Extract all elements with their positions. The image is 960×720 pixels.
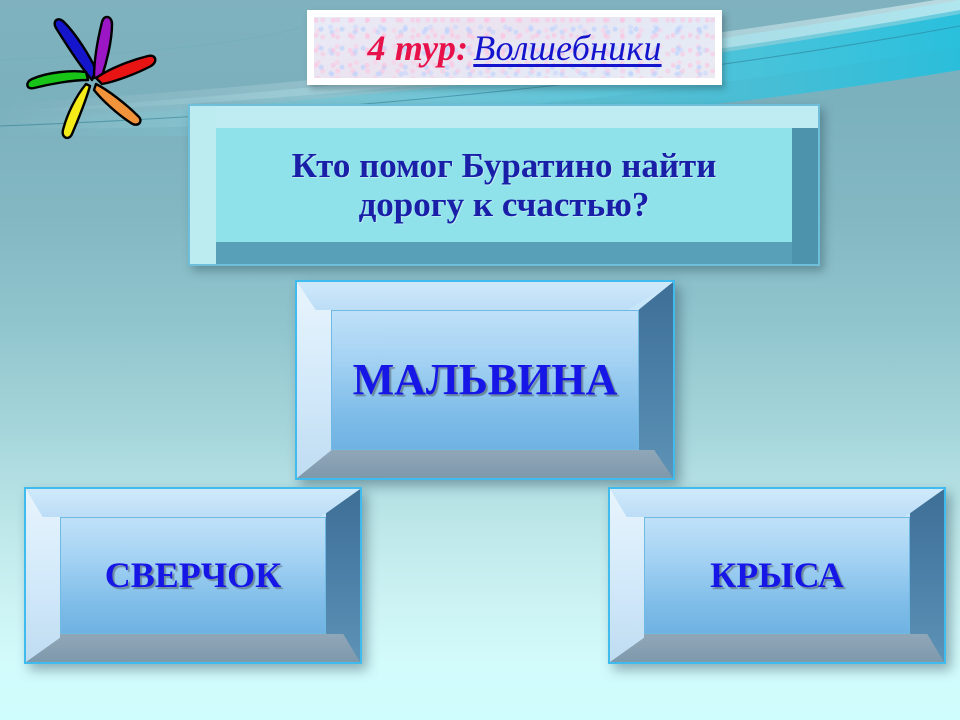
answer-plate-bevel-bottom — [26, 634, 360, 662]
answer-button-krysa[interactable]: КРЫСА — [608, 487, 946, 664]
round-title-text: 4 тур:Волшебники — [367, 30, 661, 66]
question-line-1: Кто помог Буратино найти — [292, 146, 717, 185]
answer-plate-bevel-top — [297, 282, 673, 310]
answer-plate-bevel-left — [297, 282, 331, 478]
title-separator: : — [456, 28, 468, 68]
round-title-plate: 4 тур:Волшебники — [307, 10, 722, 85]
round-topic-label: Волшебники — [473, 28, 661, 68]
round-number-label: 4 тур — [367, 28, 456, 68]
question-text: Кто помог Буратино найти дорогу к счасть… — [258, 146, 751, 224]
answer-label: КРЫСА — [710, 555, 844, 595]
answer-button-sverchok[interactable]: СВЕРЧОК — [24, 487, 362, 664]
answer-plate-bevel-bottom — [297, 450, 673, 478]
slide-canvas: 4 тур:Волшебники Кто помог Буратино найт… — [0, 0, 960, 720]
pinwheel-flower-icon — [14, 8, 174, 143]
answer-plate-bevel-top — [610, 489, 944, 517]
answer-plate-bevel-right — [639, 282, 673, 478]
answer-plate-bevel-bottom — [610, 634, 944, 662]
answer-label: МАЛЬВИНА — [353, 355, 618, 404]
answer-label: СВЕРЧОК — [105, 555, 282, 595]
answer-plate-bevel-top — [26, 489, 360, 517]
question-plate: Кто помог Буратино найти дорогу к счасть… — [188, 104, 820, 266]
answer-button-malvina[interactable]: МАЛЬВИНА — [295, 280, 675, 480]
question-line-2: дорогу к счастью? — [292, 185, 717, 224]
